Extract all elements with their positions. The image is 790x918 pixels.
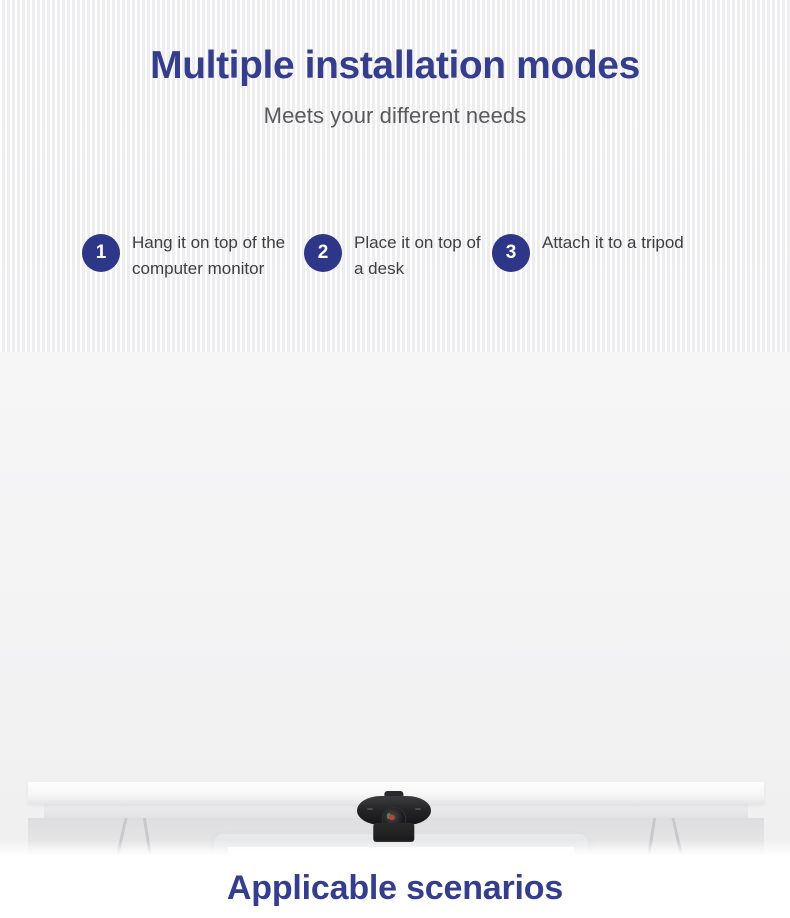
step-item-1: 1 Hang it on top of the computer monitor: [82, 230, 304, 283]
webcam-on-monitor: [357, 796, 431, 842]
installation-steps-list: 1 Hang it on top of the computer monitor…: [82, 230, 782, 283]
step-item-2: 2 Place it on top of a desk: [304, 230, 492, 283]
step-label-3: Attach it to a tripod: [542, 230, 684, 256]
page-title: Multiple installation modes: [0, 44, 790, 89]
product-infographic-page: Multiple installation modes Meets your d…: [0, 0, 790, 918]
scene-wall: [0, 352, 790, 792]
footer-banner: Applicable scenarios: [0, 858, 790, 918]
product-scene-photo: cester FARMACIA Create unique scene, end…: [0, 352, 790, 858]
step-badge-3: 3: [492, 234, 530, 272]
step-badge-2: 2: [304, 234, 342, 272]
footer-title: Applicable scenarios: [227, 869, 563, 908]
webcam-mic-dot: [415, 808, 421, 810]
step-item-3: 3 Attach it to a tripod: [492, 230, 772, 272]
scene-bottom-fade: [0, 840, 790, 858]
step-badge-1: 1: [82, 234, 120, 272]
page-header: Multiple installation modes Meets your d…: [0, 0, 790, 129]
step-label-2: Place it on top of a desk: [354, 230, 488, 283]
page-subtitle: Meets your different needs: [0, 103, 790, 129]
step-label-1: Hang it on top of the computer monitor: [132, 230, 292, 283]
webcam-mic-dot: [367, 808, 373, 810]
